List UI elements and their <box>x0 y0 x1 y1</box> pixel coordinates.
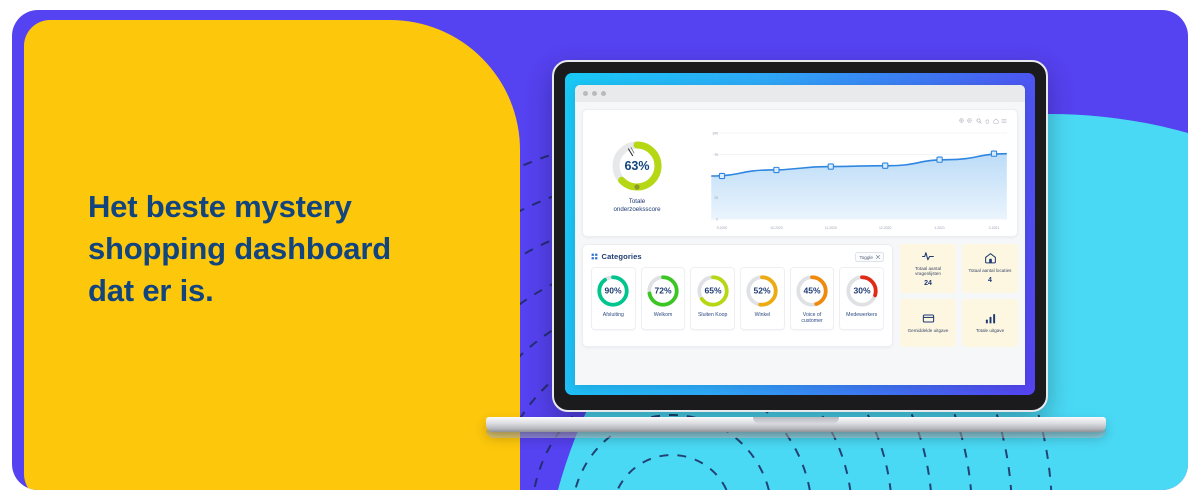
kpi-card[interactable]: Totaal aantal locaties4 <box>962 244 1018 293</box>
category-label: Sluiten Koop <box>698 312 727 318</box>
category-tile[interactable]: 45%Voice of customer <box>790 267 835 330</box>
svg-text:75: 75 <box>714 153 718 157</box>
credit-card-icon <box>922 312 935 325</box>
svg-text:11-2020: 11-2020 <box>825 226 837 230</box>
bar-chart-icon <box>984 312 997 325</box>
svg-text:100: 100 <box>712 132 718 136</box>
banner-canvas: Het beste mystery shopping dashboard dat… <box>0 0 1200 500</box>
laptop-lid: 63% Totale onderzoeksscore <box>552 60 1048 412</box>
svg-text:2-2021: 2-2021 <box>989 226 1000 230</box>
category-donut-icon: 72% <box>645 273 681 309</box>
svg-text:9-2020: 9-2020 <box>717 226 728 230</box>
kpi-card-grid: Totaal aantal vragenlijsten24Totaal aant… <box>900 244 1018 347</box>
toggle-chip[interactable]: Toggle <box>855 252 884 262</box>
toggle-chip-label: Toggle <box>859 255 873 260</box>
kpi-label: Totale uitgave <box>976 328 1004 334</box>
category-tile[interactable]: 72%Welkom <box>641 267 686 330</box>
svg-text:65%: 65% <box>704 285 721 295</box>
category-label: Winkel <box>755 312 771 318</box>
minimize-dot-icon[interactable] <box>592 91 597 96</box>
category-tile[interactable]: 65%Sluiten Koop <box>690 267 735 330</box>
overall-score-caption-line2: onderzoeksscore <box>613 206 660 214</box>
svg-text:90%: 90% <box>605 285 622 295</box>
svg-text:45%: 45% <box>803 285 820 295</box>
kpi-label: Totaal aantal vragenlijsten <box>902 266 954 277</box>
svg-text:63%: 63% <box>624 159 649 173</box>
categories-and-kpis-row: Categories Toggle 90%Afsluiting72%Welkom… <box>582 244 1018 347</box>
zoom-in-icon[interactable] <box>959 118 965 124</box>
categories-card: Categories Toggle 90%Afsluiting72%Welkom… <box>582 244 893 347</box>
overall-score-caption-line1: Totale <box>613 198 660 206</box>
close-icon[interactable] <box>876 255 880 259</box>
maximize-dot-icon[interactable] <box>601 91 606 96</box>
close-dot-icon[interactable] <box>583 91 588 96</box>
home-reset-icon[interactable] <box>993 118 999 124</box>
category-donut-icon: 45% <box>794 273 830 309</box>
kpi-value: 24 <box>924 280 932 287</box>
svg-text:10-2020: 10-2020 <box>770 226 783 230</box>
home-icon <box>984 252 997 265</box>
overall-score-gauge: 63% Totale onderzoeksscore <box>591 117 683 231</box>
laptop-screen: 63% Totale onderzoeksscore <box>565 73 1035 395</box>
category-label: Medewerkers <box>846 312 877 318</box>
chart-toolbar[interactable] <box>959 118 1008 124</box>
trend-chart-area: 02550751009-202010-202011-202012-20201-2… <box>683 117 1009 231</box>
category-label: Afsluiting <box>603 312 624 318</box>
category-donut-icon: 52% <box>744 273 780 309</box>
categories-header: Categories <box>591 252 884 261</box>
categories-title: Categories <box>602 252 642 261</box>
overall-score-donut-icon: 63% <box>609 138 665 194</box>
pan-icon[interactable] <box>984 118 990 124</box>
laptop-base-notch <box>753 417 839 424</box>
svg-text:30%: 30% <box>853 285 870 295</box>
kpi-card[interactable]: Gemiddelde uitgave <box>900 299 956 348</box>
trend-chart-labels: 02550751009-202010-202011-202012-20201-2… <box>683 129 1009 233</box>
zoom-out-icon[interactable] <box>967 118 973 124</box>
category-label: Voice of customer <box>793 312 832 325</box>
svg-text:25: 25 <box>714 196 718 200</box>
category-label: Welkom <box>654 312 673 318</box>
kpi-label: Gemiddelde uitgave <box>908 328 949 334</box>
window-titlebar <box>575 85 1025 102</box>
category-tile[interactable]: 90%Afsluiting <box>591 267 636 330</box>
kpi-value: 4 <box>988 277 992 284</box>
page-title: Het beste mystery shopping dashboard dat… <box>88 186 428 312</box>
svg-text:12-2020: 12-2020 <box>879 226 892 230</box>
svg-text:1-2021: 1-2021 <box>934 226 945 230</box>
magnifier-icon[interactable] <box>976 118 982 124</box>
kpi-card[interactable]: Totaal aantal vragenlijsten24 <box>900 244 956 293</box>
laptop-base <box>486 417 1106 432</box>
svg-text:52%: 52% <box>754 285 771 295</box>
laptop-mockup: 63% Totale onderzoeksscore <box>486 60 1106 450</box>
overview-card: 63% Totale onderzoeksscore <box>582 109 1018 237</box>
dashboard-body: 63% Totale onderzoeksscore <box>575 102 1025 385</box>
category-donut-icon: 30% <box>844 273 880 309</box>
svg-text:0: 0 <box>716 218 718 222</box>
overall-score-caption: Totale onderzoeksscore <box>613 198 660 214</box>
grid-icon <box>591 253 598 260</box>
category-tile[interactable]: 30%Medewerkers <box>839 267 884 330</box>
category-donut-icon: 65% <box>695 273 731 309</box>
pulse-icon <box>922 250 935 263</box>
svg-text:50: 50 <box>714 175 718 179</box>
kpi-card[interactable]: Totale uitgave <box>962 299 1018 348</box>
browser-window: 63% Totale onderzoeksscore <box>575 85 1025 385</box>
category-donut-icon: 90% <box>595 273 631 309</box>
svg-text:72%: 72% <box>654 285 671 295</box>
kpi-label: Totaal aantal locaties <box>969 268 1012 274</box>
category-tile[interactable]: 52%Winkel <box>740 267 785 330</box>
category-tiles-row: 90%Afsluiting72%Welkom65%Sluiten Koop52%… <box>591 267 884 330</box>
menu-icon[interactable] <box>1001 118 1007 124</box>
